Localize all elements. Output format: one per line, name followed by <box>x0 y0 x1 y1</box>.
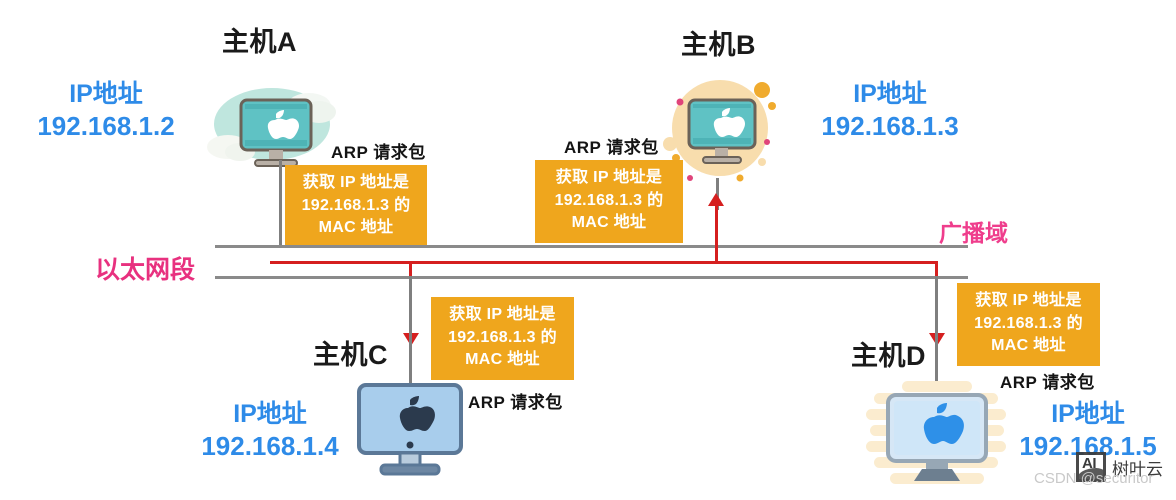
host-c-label: 主机C <box>313 333 388 372</box>
broadcast-domain-label: 广播域 <box>939 214 1008 248</box>
host-d-drop-line <box>935 276 938 384</box>
host-d-ip-title: IP地址 <box>1000 398 1176 430</box>
host-d-label: 主机D <box>851 334 926 373</box>
host-a-icon <box>206 84 342 172</box>
host-c-drop-line <box>409 276 412 386</box>
host-c-ip-title: IP地址 <box>180 398 360 430</box>
imac-teal-cloud-icon <box>206 84 342 172</box>
host-b-callout: 获取 IP 地址是 192.168.1.3 的 MAC 地址 <box>535 160 683 243</box>
host-a-drop-line <box>279 160 282 248</box>
host-d-callout-line-1: 获取 IP 地址是 <box>967 290 1090 313</box>
watermark-credit: CSDN @securitor <box>1034 470 1153 487</box>
bus-line-bottom <box>215 276 968 279</box>
host-c-callout-line-3: MAC 地址 <box>441 349 564 372</box>
imac-blue-beige-icon <box>864 375 1010 495</box>
host-c-callout: 获取 IP 地址是 192.168.1.3 的 MAC 地址 <box>431 297 574 380</box>
imac-lightblue-icon <box>355 383 465 478</box>
host-a-callout-line-2: 192.168.1.3 的 <box>295 195 417 218</box>
host-d-arp-label: ARP 请求包 <box>1000 368 1095 393</box>
host-c-arp-label: ARP 请求包 <box>468 388 563 413</box>
host-d-callout-line-3: MAC 地址 <box>967 335 1090 358</box>
host-d-icon <box>864 375 1010 495</box>
arp-broadcast-diagram: 主机A IP地址 192.168.1.2 ARP 请求包 获取 IP <box>0 0 1176 500</box>
ethernet-segment-label: 以太网段 <box>95 250 195 286</box>
host-b-arp-label: ARP 请求包 <box>564 133 659 158</box>
host-b-ip-title: IP地址 <box>800 78 980 110</box>
host-c-icon <box>355 383 465 478</box>
bus-line-top <box>215 245 968 248</box>
red-arrowhead-host-b <box>708 193 724 206</box>
host-d-callout-line-2: 192.168.1.3 的 <box>967 313 1090 336</box>
host-c-callout-line-1: 获取 IP 地址是 <box>441 304 564 327</box>
host-b-label: 主机B <box>681 23 756 62</box>
host-c-callout-line-2: 192.168.1.3 的 <box>441 327 564 350</box>
host-a-label: 主机A <box>222 20 297 59</box>
host-a-arp-label: ARP 请求包 <box>331 138 426 163</box>
host-b-callout-line-1: 获取 IP 地址是 <box>545 167 673 190</box>
host-a-callout: 获取 IP 地址是 192.168.1.3 的 MAC 地址 <box>285 165 427 248</box>
host-c-ip-block: IP地址 192.168.1.4 <box>180 398 360 463</box>
red-branch-to-host-b <box>715 205 718 263</box>
host-b-callout-line-2: 192.168.1.3 的 <box>545 190 673 213</box>
host-a-callout-line-3: MAC 地址 <box>295 217 417 240</box>
host-a-ip-block: IP地址 192.168.1.2 <box>20 78 192 143</box>
host-d-callout: 获取 IP 地址是 192.168.1.3 的 MAC 地址 <box>957 283 1100 366</box>
host-b-ip-block: IP地址 192.168.1.3 <box>800 78 980 143</box>
host-c-ip-value: 192.168.1.4 <box>180 430 360 463</box>
broadcast-red-line <box>270 261 938 264</box>
host-a-callout-line-1: 获取 IP 地址是 <box>295 172 417 195</box>
host-a-ip-title: IP地址 <box>20 78 192 110</box>
host-b-callout-line-3: MAC 地址 <box>545 212 673 235</box>
host-b-ip-value: 192.168.1.3 <box>800 110 980 143</box>
host-a-ip-value: 192.168.1.2 <box>20 110 192 143</box>
